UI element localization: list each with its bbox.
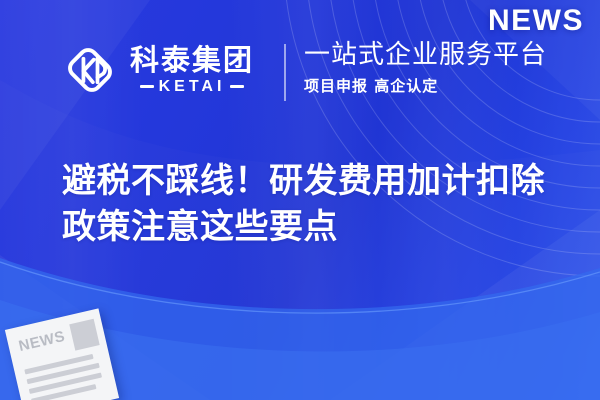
header-tagline: 一站式企业服务平台 项目申报 高企认定	[304, 40, 547, 95]
company-logo[interactable]: 科泰集团 KETAI	[60, 40, 254, 100]
logo-dash-left	[140, 85, 154, 88]
logo-dash-right	[230, 85, 244, 88]
ketai-diamond-monogram-icon	[60, 40, 120, 100]
news-label: NEWS	[488, 4, 584, 38]
news-banner: 科泰集团 KETAI 一站式企业服务平台 项目申报 高企认定 NEWS 避税不踩…	[0, 0, 600, 400]
newspaper-card-thumbnail	[69, 319, 99, 351]
logo-company-cn: 科泰集团	[130, 45, 254, 75]
newspaper-card-heading: NEWS	[17, 329, 66, 354]
banner-header: 科泰集团 KETAI 一站式企业服务平台 项目申报 高企认定 NEWS	[0, 0, 600, 130]
logo-company-en: KETAI	[159, 79, 226, 95]
header-divider	[284, 44, 286, 101]
tagline-sub: 项目申报 高企认定	[304, 77, 547, 95]
logo-company-en-row: KETAI	[140, 79, 245, 95]
tagline-main: 一站式企业服务平台	[304, 40, 547, 71]
article-title: 避税不踩线！研发费用加计扣除政策注意这些要点	[62, 158, 572, 250]
logo-wordmark: 科泰集团 KETAI	[130, 45, 254, 94]
